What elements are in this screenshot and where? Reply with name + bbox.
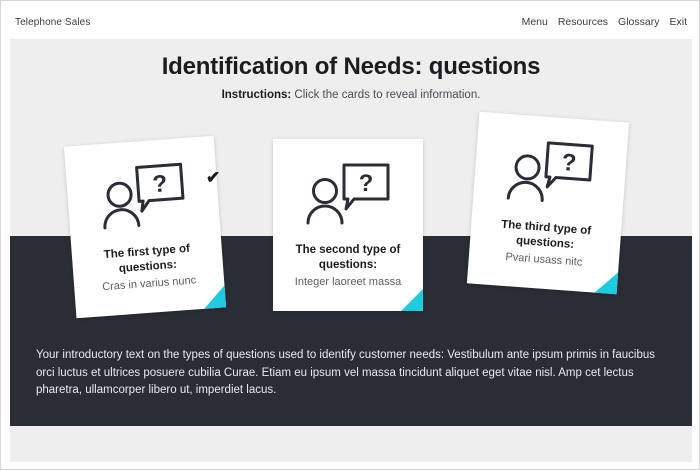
question-card-3[interactable]: ? The third type of questions: Pvari usa… (467, 112, 629, 295)
person-question-icon: ? (302, 161, 394, 227)
svg-text:?: ? (152, 170, 169, 198)
checkmark-icon-card-1: ✔ (206, 169, 220, 186)
nav-menu[interactable]: Menu (522, 16, 548, 28)
top-navigation: Menu Resources Glossary Exit (522, 16, 687, 28)
question-card-2[interactable]: ? The second type of questions: Integer … (273, 139, 423, 311)
nav-glossary[interactable]: Glossary (618, 16, 659, 28)
nav-exit[interactable]: Exit (669, 16, 687, 28)
card-corner-fold (401, 289, 423, 311)
nav-resources[interactable]: Resources (558, 16, 608, 28)
slide-stage: Identification of Needs: questions Instr… (10, 39, 692, 462)
instructions-label: Instructions: (222, 89, 292, 101)
instructions-text: Click the cards to reveal information. (294, 89, 480, 101)
person-question-icon: ? (502, 136, 599, 209)
top-bar: Telephone Sales Menu Resources Glossary … (1, 1, 699, 38)
page-title: Identification of Needs: questions (10, 53, 692, 81)
card-corner-fold (595, 271, 619, 295)
instructions-line: Instructions: Click the cards to reveal … (10, 89, 692, 101)
intro-paragraph: Your introductory text on the types of q… (36, 347, 664, 400)
course-brand-title: Telephone Sales (15, 17, 90, 28)
course-slide: Telephone Sales Menu Resources Glossary … (0, 0, 700, 470)
svg-text:?: ? (561, 149, 578, 177)
question-card-1[interactable]: ? The first type of questions: Cras in v… (64, 136, 226, 319)
svg-text:?: ? (359, 170, 374, 197)
card-subtitle: Integer laoreet massa (281, 276, 415, 288)
card-title: The second type of questions: (283, 243, 413, 273)
card-corner-fold (203, 285, 227, 309)
person-question-icon: ? (94, 160, 191, 233)
